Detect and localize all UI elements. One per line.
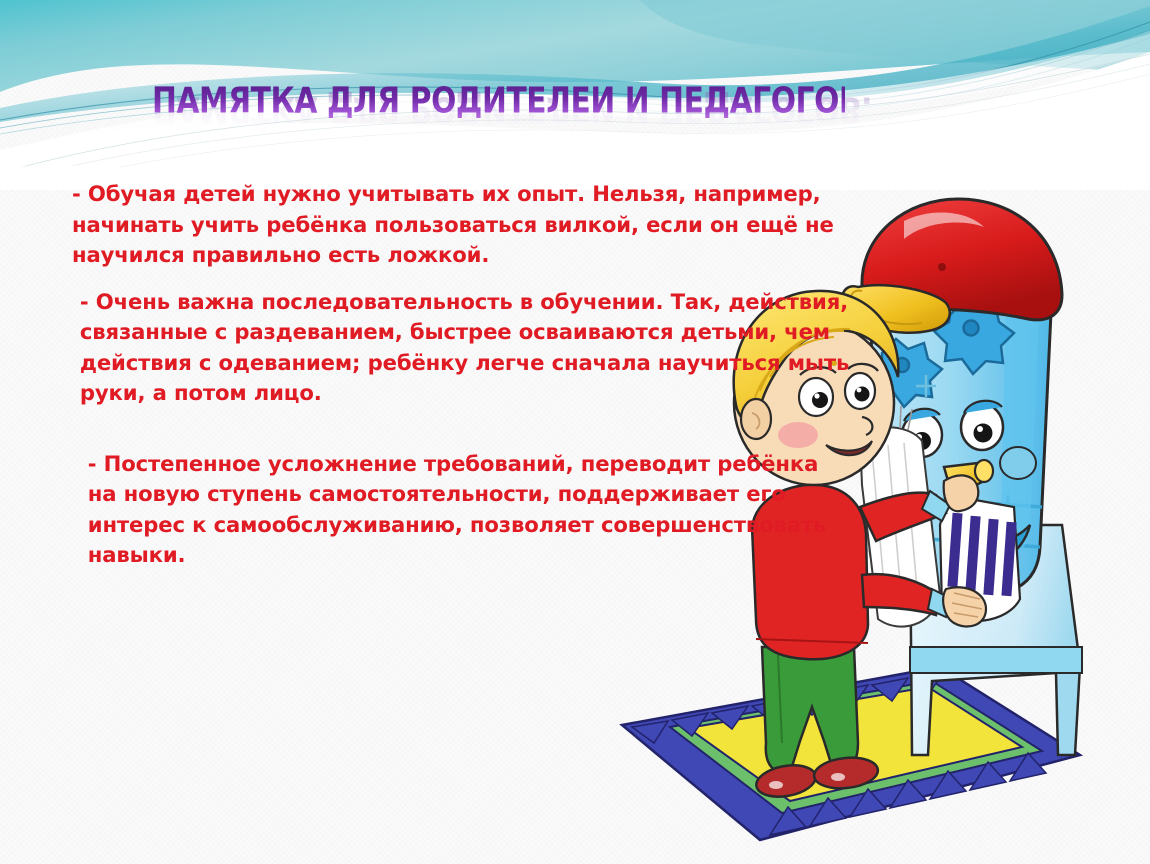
wave-teal-right <box>640 0 1150 72</box>
page-title: ПАМЯТКА ДЛЯ РОДИТЕЛЕЙ И ПЕДАГОГОВ. ПАМЯТ… <box>152 84 852 159</box>
page-title-text: ПАМЯТКА ДЛЯ РОДИТЕЛЕЙ И ПЕДАГОГОВ. <box>152 84 845 119</box>
paragraph-2: - Очень важна последовательность в обуче… <box>72 288 850 410</box>
slide-root: ПАМЯТКА ДЛЯ РОДИТЕЛЕЙ И ПЕДАГОГОВ. ПАМЯТ… <box>0 0 1150 864</box>
wave-teal-fill <box>0 0 1150 92</box>
rug <box>622 667 1080 840</box>
paragraph-1: - Обучая детей нужно учитывать их опыт. … <box>72 180 850 272</box>
washbasin-eyes <box>902 401 1003 457</box>
washbasin-character <box>868 239 1052 596</box>
sparkle-icon <box>916 375 936 397</box>
white-towel <box>850 406 940 627</box>
striped-towel <box>940 495 1020 621</box>
washbasin-stand <box>910 525 1082 755</box>
tap-handle-right <box>934 300 1014 374</box>
paragraph-3: - Постепенное усложнение требований, пер… <box>72 450 850 572</box>
faucet-nose <box>941 460 993 525</box>
content-text-block: - Обучая детей нужно учитывать их опыт. … <box>72 180 862 578</box>
tap-handle-left <box>868 339 942 407</box>
red-cap <box>842 199 1062 333</box>
